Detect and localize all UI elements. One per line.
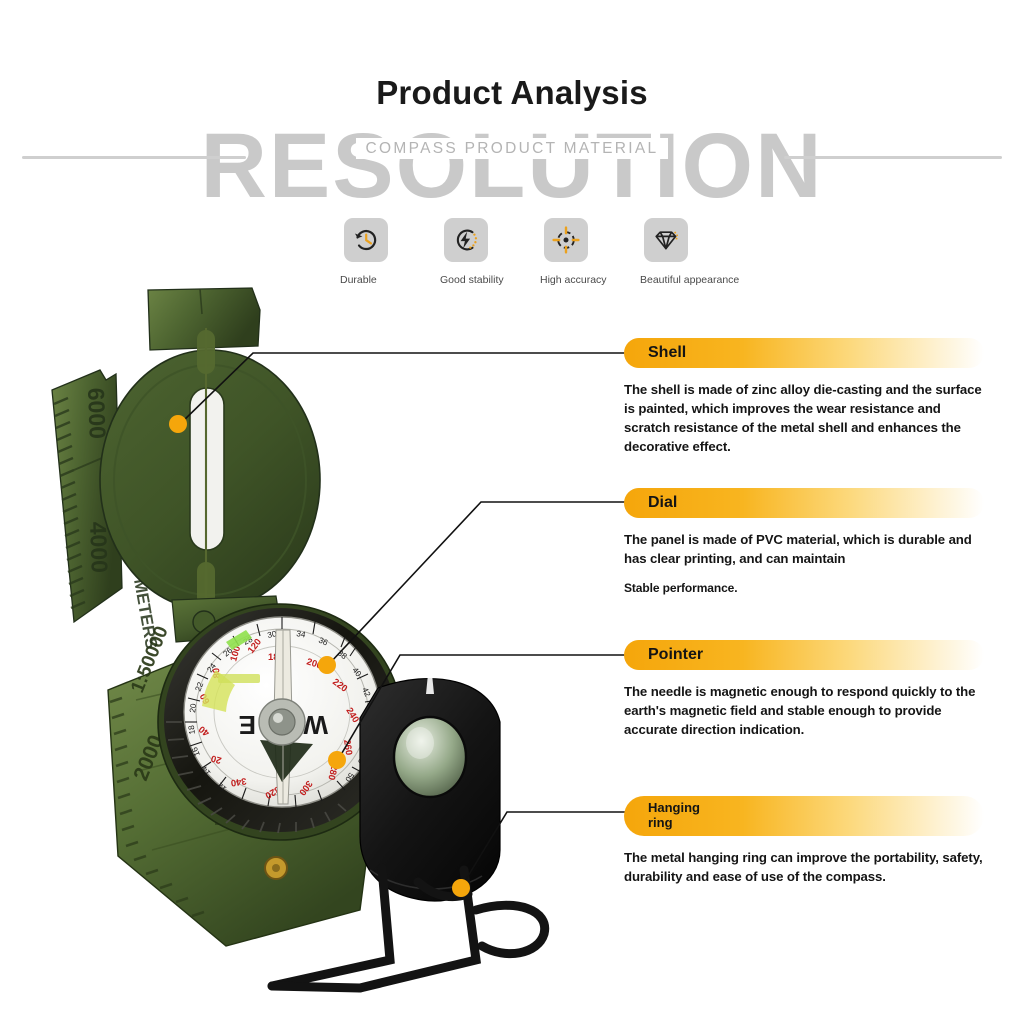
info-body: The shell is made of zinc alloy die-cast… <box>624 380 984 457</box>
clock-rotate-icon <box>351 225 381 255</box>
info-pill-dial: Dial <box>624 488 984 518</box>
info-body: The panel is made of PVC material, which… <box>624 530 984 568</box>
info-pill-shell: Shell <box>624 338 984 368</box>
feature-tile <box>344 218 388 262</box>
dial-cardinal-e: E <box>239 710 256 740</box>
svg-text:260: 260 <box>342 739 355 756</box>
info-block-dial: Dial The panel is made of PVC material, … <box>624 488 984 598</box>
hinge-screw <box>265 857 287 879</box>
info-body: The metal hanging ring can improve the p… <box>624 848 984 886</box>
lightning-bolt-icon <box>451 225 481 255</box>
magnifier-lens <box>394 717 466 797</box>
feature-item-beautiful-appearance: Beautiful appearance <box>640 218 740 298</box>
product-image-compass: 1:50000 2000 <box>30 270 620 1000</box>
diamond-gem-icon <box>651 225 681 255</box>
info-pill-pointer: Pointer <box>624 640 984 670</box>
info-block-shell: Shell The shell is made of zinc alloy di… <box>624 338 984 457</box>
svg-text:18: 18 <box>187 724 197 735</box>
infographic-page: RESOLUTION Product Analysis COMPASS PROD… <box>0 0 1024 1024</box>
page-title: Product Analysis <box>0 70 1024 118</box>
feature-tile <box>644 218 688 262</box>
svg-text:20: 20 <box>188 703 198 714</box>
info-pill-hanging-ring: Hanging ring <box>624 796 984 836</box>
page-subtitle-text: COMPASS PRODUCT MATERIAL <box>356 138 669 159</box>
page-subtitle: COMPASS PRODUCT MATERIAL <box>0 140 1024 158</box>
info-title: Hanging ring <box>648 801 700 830</box>
info-body: The needle is magnetic enough to respond… <box>624 682 984 739</box>
info-title: Pointer <box>648 646 703 664</box>
feature-tile <box>444 218 488 262</box>
header: RESOLUTION Product Analysis COMPASS PROD… <box>0 0 1024 200</box>
feature-label: Beautiful appearance <box>640 274 739 286</box>
watermark-text: RESOLUTION <box>0 120 1024 212</box>
info-block-hanging-ring: Hanging ring The metal hanging ring can … <box>624 796 984 886</box>
feature-tile <box>544 218 588 262</box>
info-note: Stable performance. <box>624 580 984 597</box>
dial-cardinal-w: W <box>303 710 328 740</box>
crosshair-target-icon <box>551 225 581 255</box>
info-title: Dial <box>648 494 677 512</box>
engraving-6000: 6000 <box>83 387 111 439</box>
info-title: Shell <box>648 344 686 362</box>
svg-text:340: 340 <box>230 776 247 789</box>
info-block-pointer: Pointer The needle is magnetic enough to… <box>624 640 984 739</box>
